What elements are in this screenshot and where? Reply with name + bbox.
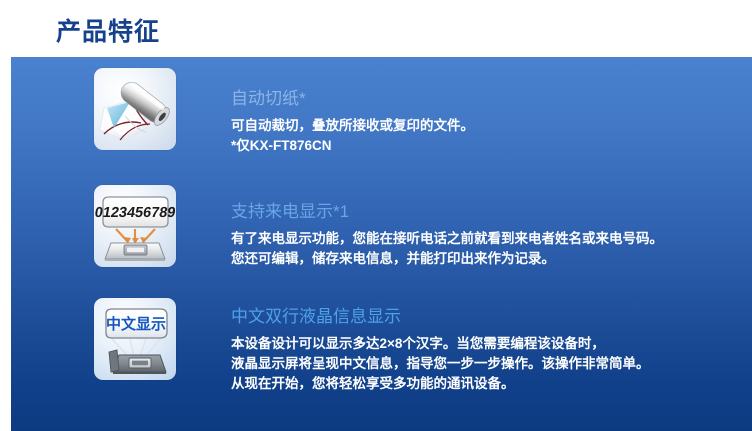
product-features-page: 产品特征 [0,0,752,431]
feature-body: 有了来电显示功能，您能在接听电话之前就看到来电者姓名或来电号码。 您还可编辑，储… [231,229,752,269]
feature-body: 本设备设计可以显示多达2×8个汉字。当您需要编程该设备时， 液晶显示屏将呈现中文… [231,334,752,394]
feature-row: 0123456789 [11,185,752,269]
feature-heading: 中文双行液晶信息显示 [231,306,752,328]
feature-body: 可自动裁切，叠放所接收或复印的文件。 *仅KX-FT876CN [231,116,752,156]
body-line: 您还可编辑，储存来电信息，并能打印出来作为记录。 [231,249,752,269]
feature-text-block: 自动切纸* 可自动裁切，叠放所接收或复印的文件。 *仅KX-FT876CN [231,68,752,156]
feature-panel: 自动切纸* 可自动裁切，叠放所接收或复印的文件。 *仅KX-FT876CN [11,57,752,431]
caller-id-display-icon: 0123456789 [94,185,176,267]
feature-heading: 自动切纸* [231,88,752,110]
body-line: 从现在开始，您将轻松享受多功能的通讯设备。 [231,374,752,394]
chinese-display-label-text: 中文显示 [106,315,166,333]
body-line: 本设备设计可以显示多达2×8个汉字。当您需要编程该设备时， [231,334,752,354]
feature-row: 中文显示 [11,298,752,394]
body-line: 液晶显示屏将呈现中文信息，指导您一步一步操作。该操作非常简单。 [231,354,752,374]
body-line: *仅KX-FT876CN [231,136,752,156]
feature-text-block: 支持来电显示*1 有了来电显示功能，您能在接听电话之前就看到来电者姓名或来电号码… [231,185,752,269]
body-line: 有了来电显示功能，您能在接听电话之前就看到来电者姓名或来电号码。 [231,229,752,249]
body-line: 可自动裁切，叠放所接收或复印的文件。 [231,116,752,136]
chinese-lcd-display-icon: 中文显示 [94,298,176,380]
feature-text-block: 中文双行液晶信息显示 本设备设计可以显示多达2×8个汉字。当您需要编程该设备时，… [231,298,752,394]
page-title: 产品特征 [56,16,160,48]
feature-heading: 支持来电显示*1 [231,201,752,223]
paper-roll-auto-cutter-icon [94,68,176,150]
feature-row: 自动切纸* 可自动裁切，叠放所接收或复印的文件。 *仅KX-FT876CN [11,68,752,156]
caller-id-number-text: 0123456789 [94,205,176,221]
